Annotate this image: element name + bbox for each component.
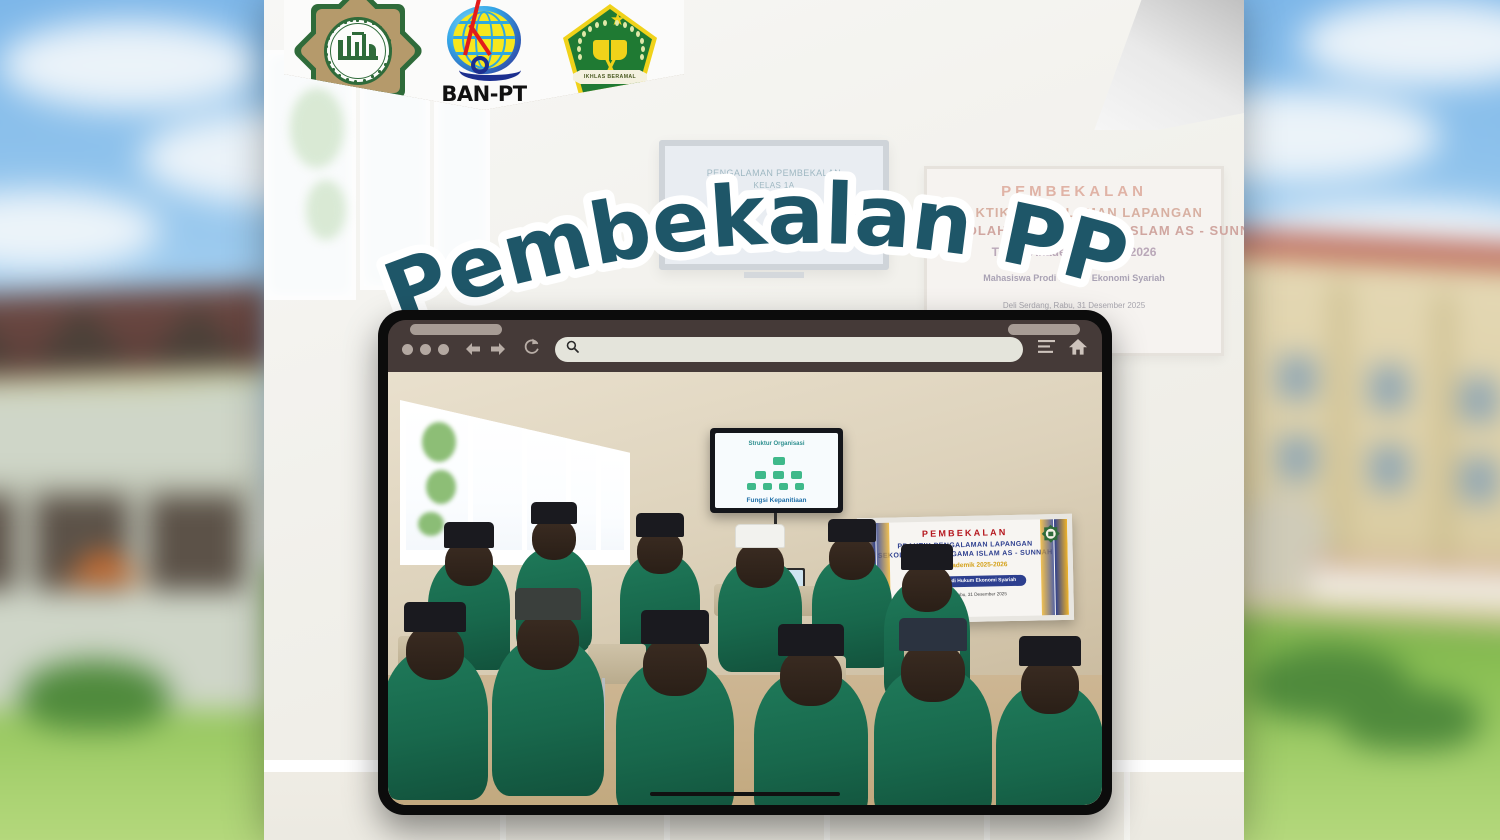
home-indicator-bar[interactable]	[650, 792, 840, 796]
background-tv-heading: PENGALAMAN PEMBEKALAN	[665, 168, 883, 178]
student-figure	[754, 622, 868, 805]
browser-chrome	[388, 320, 1102, 372]
ban-pt-label: BAN-PT	[431, 82, 537, 106]
arrow-right-icon[interactable]	[488, 340, 508, 358]
student-figure	[616, 608, 734, 805]
window-dot-1[interactable]	[402, 344, 413, 355]
right-building	[1220, 240, 1500, 670]
student-figure	[492, 586, 604, 796]
student-figure	[996, 634, 1102, 805]
browser-tab-left[interactable]	[410, 324, 502, 335]
student-figure	[388, 600, 488, 800]
hamburger-menu-icon[interactable]	[1037, 339, 1056, 359]
screen-photo: Struktur Organisasi Fungsi Kepanitiaan	[388, 372, 1102, 805]
tablet-device-frame: Struktur Organisasi Fungsi Kepanitiaan	[378, 310, 1112, 815]
arrow-left-icon[interactable]	[463, 340, 483, 358]
bg-banner-line4: Tahun Akademik 2025 – 2026	[937, 245, 1211, 259]
banner-seal-icon	[1041, 524, 1060, 543]
search-icon	[566, 340, 579, 358]
background-tv: PENGALAMAN PEMBEKALAN KELAS 1A	[659, 140, 889, 270]
bg-banner-line1: PEMBEKALAN	[937, 183, 1211, 200]
poster-stage: PENGALAMAN PEMBEKALAN KELAS 1A PEMBEKALA…	[0, 0, 1500, 840]
background-tv-stand	[744, 272, 804, 278]
ring-text	[325, 18, 391, 84]
bg-banner-line2: PRAKTIK PENGALAMAN LAPANGAN	[937, 205, 1211, 220]
window-controls[interactable]	[402, 344, 449, 355]
bg-banner-line3: SEKOLAH TINGGI AGAMA ISLAM AS - SUNNAH	[937, 223, 1211, 238]
red-checkmark-icon	[464, 0, 504, 81]
slide-footer: Fungsi Kepanitiaan	[715, 497, 838, 504]
ban-pt-logo: BAN-PT	[431, 4, 537, 108]
browser-tab-right[interactable]	[1008, 324, 1080, 335]
window-dot-3[interactable]	[438, 344, 449, 355]
bg-banner-line5: Mahasiswa Prodi Hukum Ekonomi Syariah	[937, 273, 1211, 283]
window-dot-2[interactable]	[420, 344, 431, 355]
left-building	[0, 290, 270, 710]
slide-title: Struktur Organisasi	[715, 441, 838, 447]
kemenag-ribbon-text: IKHLAS BERAMAL	[573, 70, 647, 84]
student-figure	[874, 616, 992, 805]
wall-banner-line1: PEMBEKALAN	[862, 526, 1067, 540]
bg-banner-line6: Deli Serdang, Rabu, 31 Desember 2025	[937, 301, 1211, 310]
background-tv-subheading: KELAS 1A	[665, 181, 883, 190]
reload-icon[interactable]	[522, 337, 541, 361]
page-curl-corner	[1054, 0, 1244, 130]
search-input[interactable]	[586, 342, 1012, 356]
address-bar[interactable]	[555, 337, 1023, 362]
presentation-tv: Struktur Organisasi Fungsi Kepanitiaan	[710, 428, 843, 513]
home-icon[interactable]	[1068, 338, 1088, 361]
